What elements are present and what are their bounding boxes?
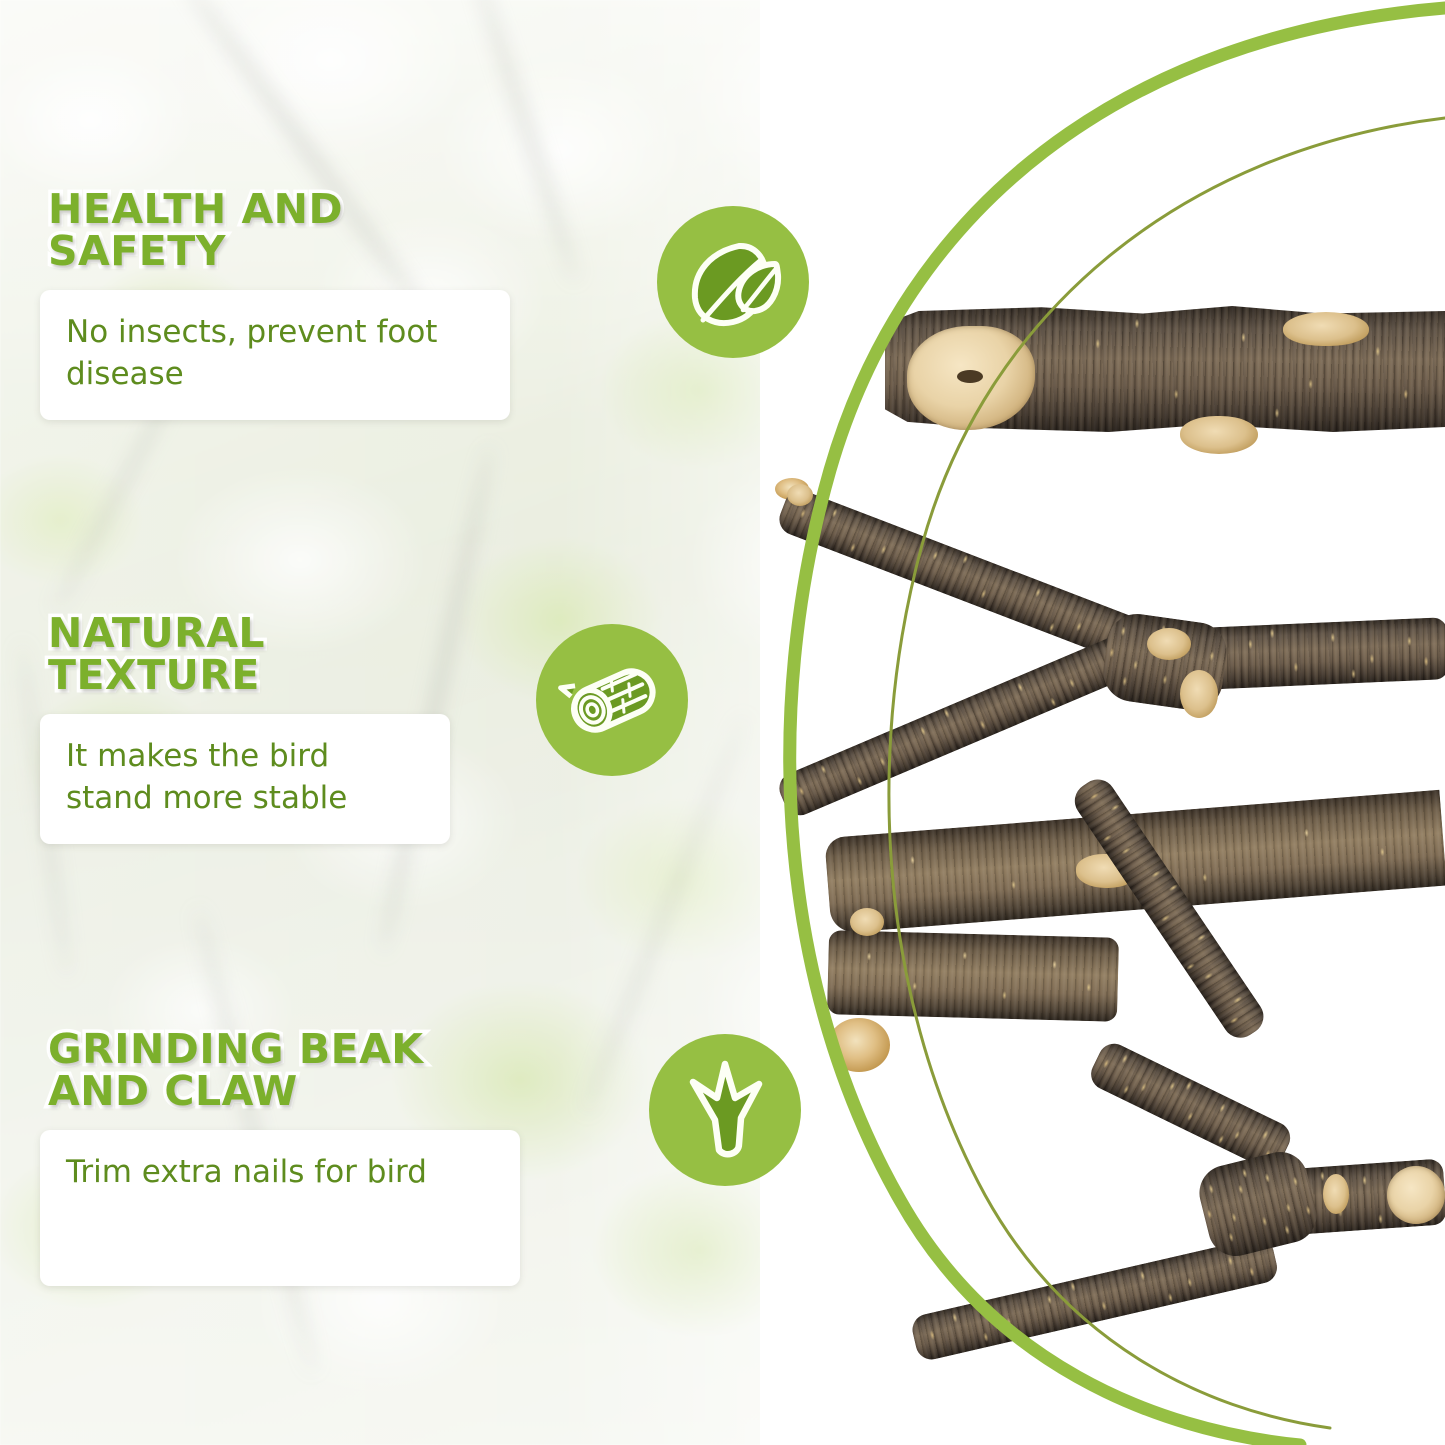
feature-heading: HEALTH AND SAFETY: [48, 188, 510, 272]
feature-body-text: No insects, prevent foot disease: [66, 312, 484, 395]
feature-icon-circle-natural-texture[interactable]: [536, 624, 688, 776]
thick-arc: [790, 8, 1445, 1445]
feature-card: Trim extra nails for bird: [40, 1130, 520, 1286]
bird-claw-icon: [673, 1058, 777, 1162]
feature-heading: GRINDING BEAK AND CLAW: [48, 1028, 424, 1112]
feature-block-natural-texture: NATURAL TEXTURE It makes the bird stand …: [40, 612, 450, 844]
feature-block-grinding-beak-and-claw: GRINDING BEAK AND CLAW Trim extra nails …: [40, 1028, 520, 1286]
feature-card: No insects, prevent foot disease: [40, 290, 510, 419]
log-icon: [558, 646, 666, 754]
feature-icon-circle-health-and-safety[interactable]: [657, 206, 809, 358]
feature-block-health-and-safety: HEALTH AND SAFETY No insects, prevent fo…: [40, 188, 510, 420]
feature-icon-circle-grinding-beak-and-claw[interactable]: [649, 1034, 801, 1186]
feature-body-text: Trim extra nails for bird: [66, 1152, 494, 1194]
thin-arc: [889, 118, 1445, 1428]
feature-heading: NATURAL TEXTURE: [48, 612, 450, 696]
feature-body-text: It makes the bird stand more stable: [66, 736, 424, 819]
leaf-icon: [681, 230, 785, 334]
feature-card: It makes the bird stand more stable: [40, 714, 450, 843]
infographic-canvas: HEALTH AND SAFETY No insects, prevent fo…: [0, 0, 1445, 1445]
